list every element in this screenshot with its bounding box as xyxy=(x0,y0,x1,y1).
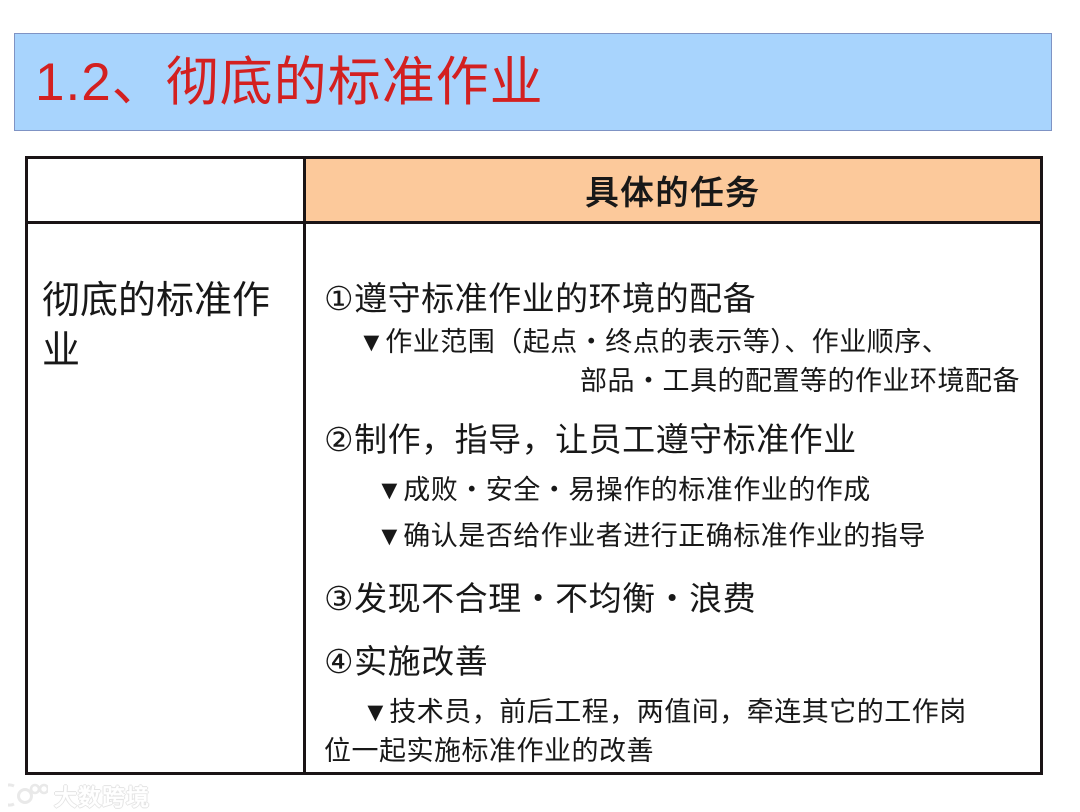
triangle-bullet-icon: ▼ xyxy=(362,697,389,727)
category-label: 彻底的标准作业 xyxy=(28,224,292,376)
slide-title-bar: 1.2、彻底的标准作业 xyxy=(14,33,1052,131)
task-item-1: ①遵守标准作业的环境的配备 ▼作业范围（起点・终点的表示等）、作业顺序、 部品・… xyxy=(324,276,1026,401)
task-item-1-sub-1-line-2: 部品・工具的配置等的作业环境配备 xyxy=(324,362,1026,401)
triangle-bullet-icon: ▼ xyxy=(376,475,403,505)
watermark-logo-icon xyxy=(8,782,48,808)
table-body-row: 彻底的标准作业 ①遵守标准作业的环境的配备 ▼作业范围（起点・终点的表示等）、作… xyxy=(28,224,1040,772)
task-item-1-marker: ① xyxy=(324,280,354,317)
task-item-4-marker: ④ xyxy=(324,643,354,680)
table-cell-tasks: ①遵守标准作业的环境的配备 ▼作业范围（起点・终点的表示等）、作业顺序、 部品・… xyxy=(306,224,1040,772)
triangle-bullet-icon: ▼ xyxy=(358,327,385,357)
task-table: 具体的任务 彻底的标准作业 ①遵守标准作业的环境的配备 ▼作业范围（起点・终点的… xyxy=(25,156,1043,775)
task-item-2-sub-1: ▼成败・安全・易操作的标准作业的作成 xyxy=(324,471,1026,510)
table-header-cell-tasks: 具体的任务 xyxy=(306,159,1040,221)
task-item-2-sub-2-text: 确认是否给作业者进行正确标准作业的指导 xyxy=(403,521,926,551)
spacer-5 xyxy=(324,625,1026,639)
task-item-4-text: 实施改善 xyxy=(354,643,488,680)
task-item-4-sub-1-line-2: 位一起实施标准作业的改善 xyxy=(324,732,1026,771)
task-item-2-text: 制作，指导，让员工遵守标准作业 xyxy=(354,421,857,458)
task-item-4: ④实施改善 ▼技术员，前后工程，两值间，牵连其它的工作岗 位一起实施标准作业的改… xyxy=(324,639,1026,771)
task-item-4-sub-1-line-1: ▼技术员，前后工程，两值间，牵连其它的工作岗 xyxy=(324,693,1026,732)
task-item-3-text: 发现不合理・不均衡・浪费 xyxy=(354,580,756,617)
task-item-1-main: ①遵守标准作业的环境的配备 xyxy=(324,276,1026,323)
task-item-1-sub-1-line-1: ▼作业范围（起点・终点的表示等）、作业顺序、 xyxy=(324,323,1026,362)
spacer-4 xyxy=(324,558,1026,576)
table-header-label: 具体的任务 xyxy=(586,166,761,214)
table-cell-category: 彻底的标准作业 xyxy=(28,224,306,772)
task-item-2-sub-1-text: 成败・安全・易操作的标准作业的作成 xyxy=(403,475,871,505)
watermark-text: 大数跨境 xyxy=(54,778,150,812)
task-item-4-sub-1-line-1-text: 技术员，前后工程，两值间，牵连其它的工作岗 xyxy=(389,697,967,727)
task-item-3-marker: ③ xyxy=(324,580,354,617)
spacer-2 xyxy=(324,464,1026,471)
task-item-1-text: 遵守标准作业的环境的配备 xyxy=(354,280,756,317)
table-header-cell-empty xyxy=(28,159,306,221)
spacer-1 xyxy=(324,403,1026,417)
task-item-2-main: ②制作，指导，让员工遵守标准作业 xyxy=(324,417,1026,464)
task-item-3: ③发现不合理・不均衡・浪费 xyxy=(324,576,1026,623)
table-header-row: 具体的任务 xyxy=(28,159,1040,224)
watermark: 大数跨境 xyxy=(8,778,150,812)
task-item-3-main: ③发现不合理・不均衡・浪费 xyxy=(324,576,1026,623)
task-item-2-marker: ② xyxy=(324,421,354,458)
task-item-4-main: ④实施改善 xyxy=(324,639,1026,686)
spacer-6 xyxy=(324,686,1026,693)
spacer-3 xyxy=(324,510,1026,517)
task-item-2-sub-2: ▼确认是否给作业者进行正确标准作业的指导 xyxy=(324,517,1026,556)
task-item-2: ②制作，指导，让员工遵守标准作业 ▼成败・安全・易操作的标准作业的作成 ▼确认是… xyxy=(324,417,1026,556)
task-item-1-sub-1-line-1-text: 作业范围（起点・终点的表示等）、作业顺序、 xyxy=(385,327,949,357)
triangle-bullet-icon: ▼ xyxy=(376,521,403,551)
slide-title: 1.2、彻底的标准作业 xyxy=(15,56,544,109)
task-list: ①遵守标准作业的环境的配备 ▼作业范围（起点・终点的表示等）、作业顺序、 部品・… xyxy=(306,224,1040,771)
